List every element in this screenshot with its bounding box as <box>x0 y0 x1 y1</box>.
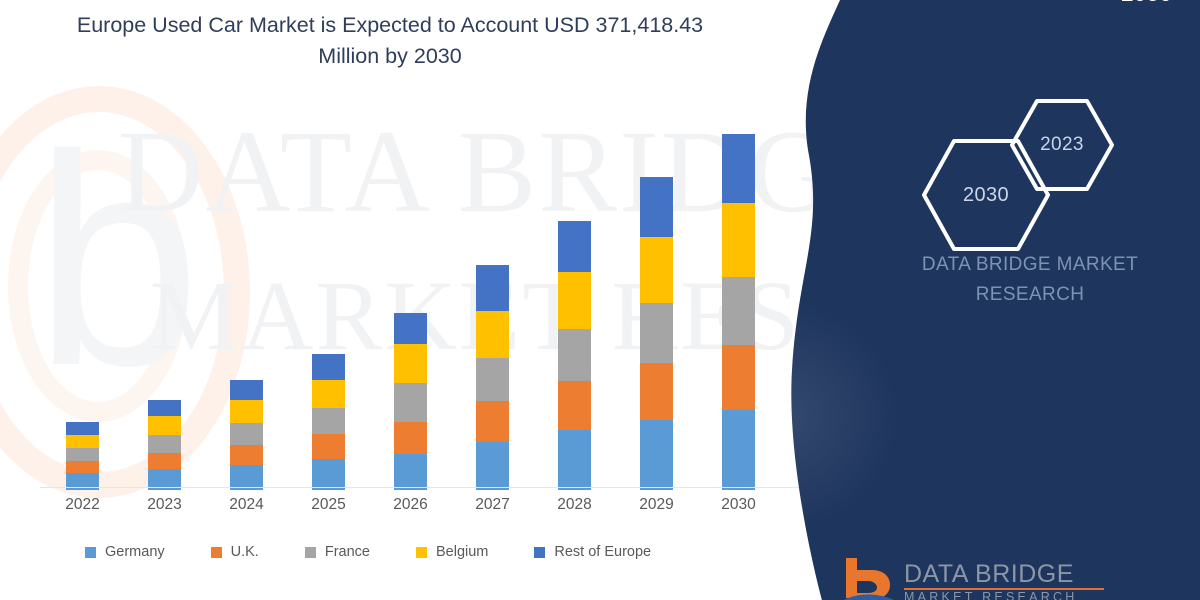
bar-segment[interactable] <box>558 430 591 490</box>
bar-segment[interactable] <box>148 416 181 435</box>
x-axis-tick-2025: 2025 <box>292 496 366 514</box>
bar-segment[interactable] <box>148 435 181 453</box>
bar-segment[interactable] <box>558 221 591 272</box>
bar-segment[interactable] <box>640 363 673 420</box>
bar-column-2023[interactable] <box>148 400 181 490</box>
chart-legend: GermanyU.K.FranceBelgiumRest of Europe <box>85 540 697 564</box>
bar-segment[interactable] <box>394 344 427 383</box>
legend-label: Germany <box>105 544 165 560</box>
bar-column-2025[interactable] <box>312 354 345 490</box>
bar-column-2024[interactable] <box>230 380 263 490</box>
bar-segment[interactable] <box>394 454 427 490</box>
bar-segment[interactable] <box>312 459 345 490</box>
bar-segment[interactable] <box>722 134 755 203</box>
x-axis-tick-2028: 2028 <box>538 496 612 514</box>
page-title-line-1: Europe Used Car Market is Expected to Ac… <box>77 13 590 37</box>
bar-segment[interactable] <box>66 461 99 473</box>
bar-segment[interactable] <box>558 381 591 430</box>
legend-swatch-icon <box>416 547 427 558</box>
bar-segment[interactable] <box>312 434 345 459</box>
legend-label: U.K. <box>231 544 259 560</box>
bar-segment[interactable] <box>722 345 755 410</box>
data-bridge-logo: DATA BRIDGE MARKET RESEARCH <box>840 556 1180 600</box>
bar-column-2030[interactable] <box>722 134 755 490</box>
bar-column-2022[interactable] <box>66 422 99 490</box>
legend-swatch-icon <box>85 547 96 558</box>
legend-swatch-icon <box>305 547 316 558</box>
bar-segment[interactable] <box>66 435 99 448</box>
bridge-icon <box>840 556 898 600</box>
legend-item-germany[interactable]: Germany <box>85 544 165 560</box>
bar-segment[interactable] <box>476 265 509 311</box>
x-axis-tick-2024: 2024 <box>210 496 284 514</box>
legend-item-u-k[interactable]: U.K. <box>211 544 259 560</box>
bar-column-2026[interactable] <box>394 313 427 490</box>
bar-column-2029[interactable] <box>640 177 673 490</box>
bar-segment[interactable] <box>394 422 427 454</box>
bar-segment[interactable] <box>722 203 755 277</box>
logo-wordmark: DATA BRIDGE <box>904 560 1074 588</box>
bar-segment[interactable] <box>394 383 427 422</box>
legend-item-france[interactable]: France <box>305 544 370 560</box>
bar-segment[interactable] <box>640 420 673 490</box>
legend-swatch-icon <box>534 547 545 558</box>
hexagon-2023: 2023 <box>1008 97 1116 193</box>
infographic-canvas: b DATA BRIDGE MARKET RESEARCH Europe Use… <box>0 0 1200 600</box>
bar-segment[interactable] <box>312 408 345 434</box>
bar-segment[interactable] <box>476 358 509 401</box>
x-axis-tick-2027: 2027 <box>456 496 530 514</box>
legend-item-belgium[interactable]: Belgium <box>416 544 488 560</box>
bar-column-2027[interactable] <box>476 265 509 490</box>
bar-segment[interactable] <box>558 329 591 381</box>
bar-segment[interactable] <box>230 423 263 445</box>
bar-segment[interactable] <box>66 422 99 435</box>
bar-segment[interactable] <box>476 442 509 490</box>
bar-segment[interactable] <box>148 400 181 416</box>
bar-segment[interactable] <box>230 380 263 400</box>
bar-segment[interactable] <box>476 401 509 442</box>
bar-segment[interactable] <box>312 354 345 380</box>
bar-segment[interactable] <box>230 445 263 465</box>
brand-name-line-1: DATA BRIDGE MARKET <box>880 250 1180 280</box>
bar-segment[interactable] <box>476 311 509 358</box>
bar-segment[interactable] <box>312 380 345 408</box>
bar-segment[interactable] <box>640 177 673 237</box>
bar-segment[interactable] <box>230 400 263 423</box>
bars-layer <box>40 113 800 490</box>
x-axis-tick-2023: 2023 <box>128 496 202 514</box>
bar-segment[interactable] <box>722 277 755 345</box>
bar-segment[interactable] <box>640 237 673 303</box>
x-axis-line <box>40 487 810 488</box>
logo-tagline: MARKET RESEARCH <box>904 590 1078 600</box>
page-title: Europe Used Car Market is Expected to Ac… <box>60 10 720 72</box>
bar-column-2028[interactable] <box>558 221 591 490</box>
bar-segment[interactable] <box>394 313 427 344</box>
x-axis-tick-2026: 2026 <box>374 496 448 514</box>
x-axis-labels: 202220232024202520262027202820292030 <box>40 496 800 522</box>
legend-item-rest-of-europe[interactable]: Rest of Europe <box>534 544 651 560</box>
x-axis-tick-2030: 2030 <box>702 496 776 514</box>
legend-label: Belgium <box>436 544 488 560</box>
bar-segment[interactable] <box>640 303 673 363</box>
panel-heading: 2030 <box>872 0 1172 8</box>
legend-swatch-icon <box>211 547 222 558</box>
legend-label: France <box>325 544 370 560</box>
hexagon-2023-label: 2023 <box>1008 97 1116 193</box>
x-axis-tick-2022: 2022 <box>46 496 120 514</box>
brand-name: DATA BRIDGE MARKET RESEARCH <box>880 250 1180 310</box>
bar-segment[interactable] <box>558 272 591 329</box>
chart-pane: b DATA BRIDGE MARKET RESEARCH Europe Use… <box>0 0 860 600</box>
brand-name-line-2: RESEARCH <box>880 280 1180 310</box>
bar-segment[interactable] <box>66 448 99 461</box>
stacked-bar-chart <box>40 110 800 490</box>
x-axis-tick-2029: 2029 <box>620 496 694 514</box>
legend-label: Rest of Europe <box>554 544 651 560</box>
bar-segment[interactable] <box>148 453 181 469</box>
bar-segment[interactable] <box>722 410 755 490</box>
